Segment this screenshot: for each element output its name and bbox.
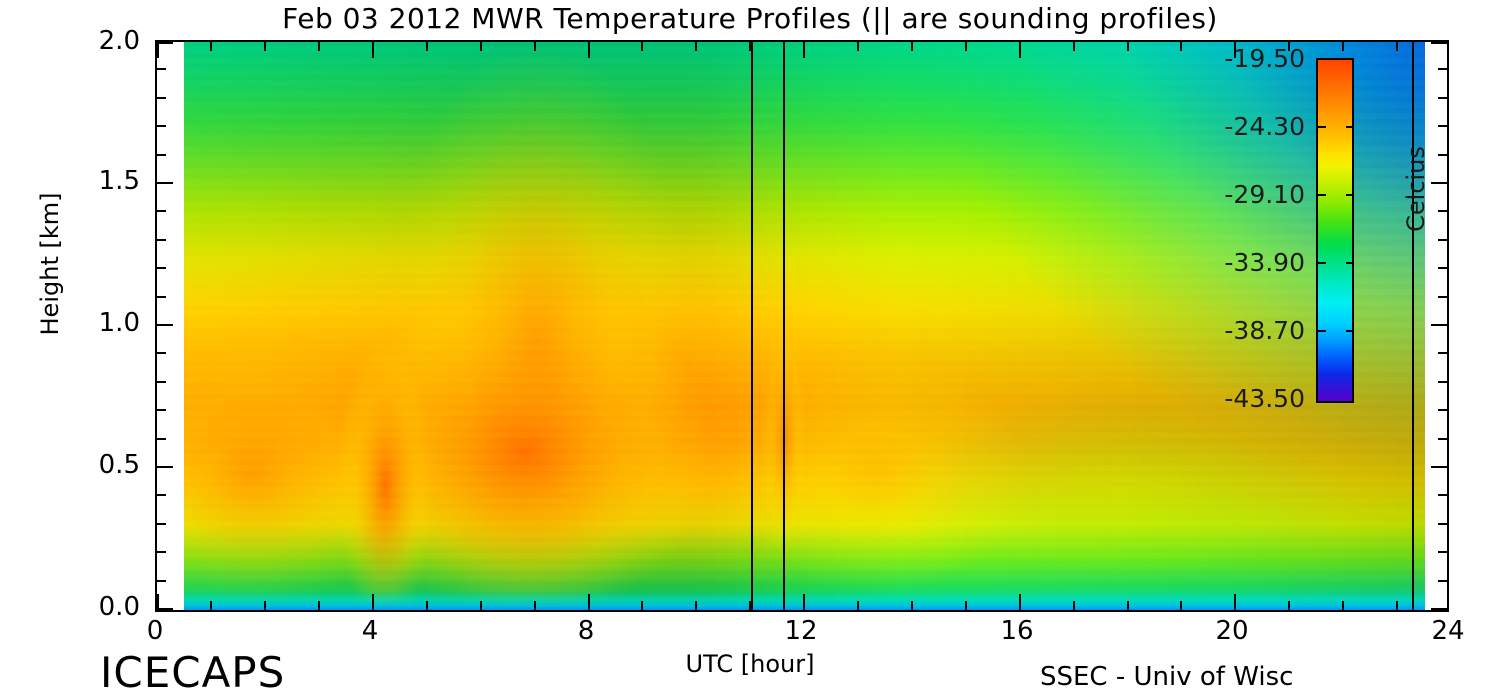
brand-label: ICECAPS (100, 648, 285, 697)
y-tick-label: 2.0 (30, 26, 140, 56)
y-axis-title: Height [km] (36, 154, 64, 374)
y-tick-label: 0.0 (30, 592, 140, 622)
x-tick-label: 12 (771, 616, 831, 646)
credit-label: SSEC - Univ of Wisc (1040, 662, 1293, 692)
sounding-profile-line-2 (783, 42, 785, 610)
colorbar-tick-label: -43.50 (1175, 384, 1305, 413)
colorbar-tick-label: -24.30 (1175, 112, 1305, 141)
x-tick-label: 20 (1202, 616, 1262, 646)
colorbar-tick-label: -29.10 (1175, 180, 1305, 209)
y-tick-label: 0.5 (30, 450, 140, 480)
colorbar-tick-label: -38.70 (1175, 316, 1305, 345)
x-tick-label: 16 (987, 616, 1047, 646)
x-tick-label: 8 (556, 616, 616, 646)
sounding-profile-line-1 (751, 42, 753, 610)
colorbar-tick-label: -33.90 (1175, 248, 1305, 277)
page-title: Feb 03 2012 MWR Temperature Profiles (||… (0, 2, 1500, 35)
colorbar-tick-label: -19.50 (1175, 44, 1305, 73)
chart-root: Feb 03 2012 MWR Temperature Profiles (||… (0, 0, 1500, 700)
x-tick-label: 4 (340, 616, 400, 646)
sounding-profile-line-3 (1412, 42, 1414, 610)
x-tick-label: 24 (1418, 616, 1478, 646)
